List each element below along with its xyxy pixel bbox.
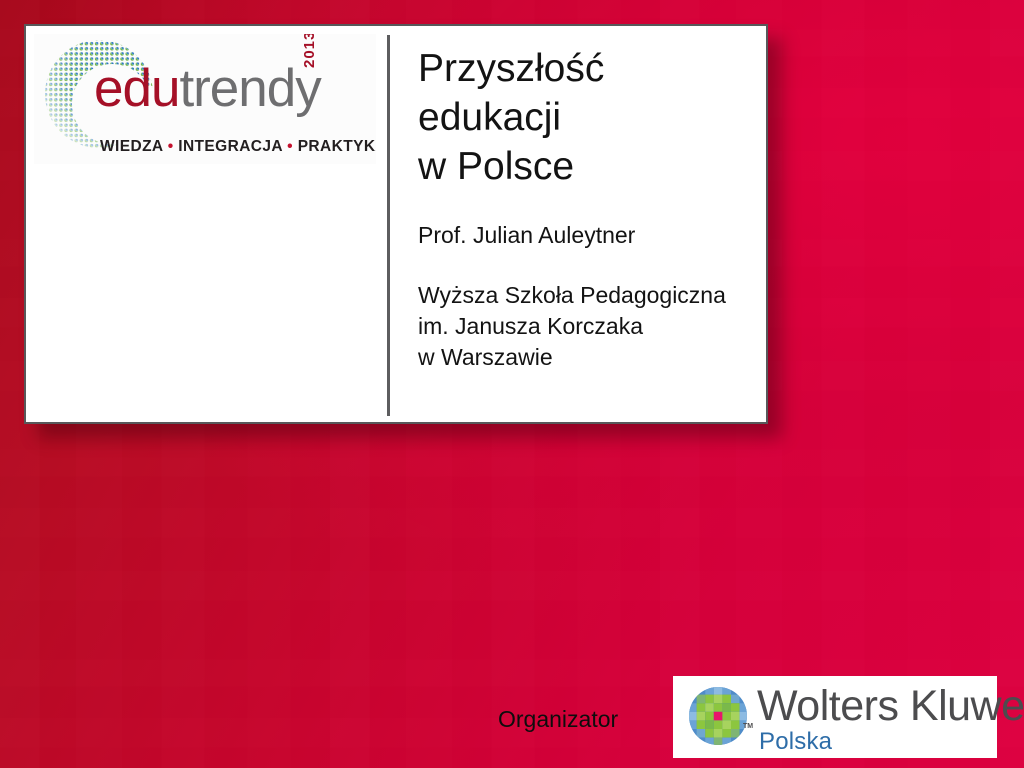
trendy-word: trendy — [179, 59, 320, 118]
edu-trendy-logo: edutrendy 2013 WIEDZA • INTEGRACJA • PRA… — [34, 34, 376, 164]
tagline-part-1: WIEDZA — [100, 138, 163, 155]
wolters-kluwer-name: Wolters Kluwer — [757, 684, 1024, 729]
title-card: edutrendy 2013 WIEDZA • INTEGRACJA • PRA… — [24, 24, 768, 424]
wolters-kluwer-region: Polska — [759, 728, 832, 756]
tagline-separator-icon: • — [287, 138, 293, 155]
edu-word: edu — [94, 59, 179, 118]
edu-logo-year: 2013 — [301, 34, 318, 68]
presentation-slide: edutrendy 2013 WIEDZA • INTEGRACJA • PRA… — [0, 0, 1024, 768]
wolters-kluwer-globe-icon — [688, 686, 748, 746]
organizer-label: Organizator — [498, 706, 618, 733]
edu-trendy-wordmark: edutrendy — [94, 62, 376, 124]
wolters-kluwer-logo-card: TM Wolters Kluwer Polska — [673, 676, 997, 758]
edu-logo-tagline: WIEDZA • INTEGRACJA • PRAKTYKA — [100, 138, 376, 156]
card-divider — [387, 35, 390, 416]
presenter-affiliation: Wyższa Szkoła Pedagogiczna im. Janusza K… — [418, 280, 762, 373]
page-title: Przyszłość edukacji w Polsce — [418, 44, 762, 191]
tagline-part-3: PRAKTYKA — [298, 138, 376, 155]
presenter-name: Prof. Julian Auleytner — [418, 221, 762, 250]
trademark-mark: TM — [743, 723, 753, 730]
tagline-part-2: INTEGRACJA — [178, 138, 282, 155]
tagline-separator-icon: • — [168, 138, 174, 155]
card-text-column: Przyszłość edukacji w Polsce Prof. Julia… — [418, 44, 762, 373]
